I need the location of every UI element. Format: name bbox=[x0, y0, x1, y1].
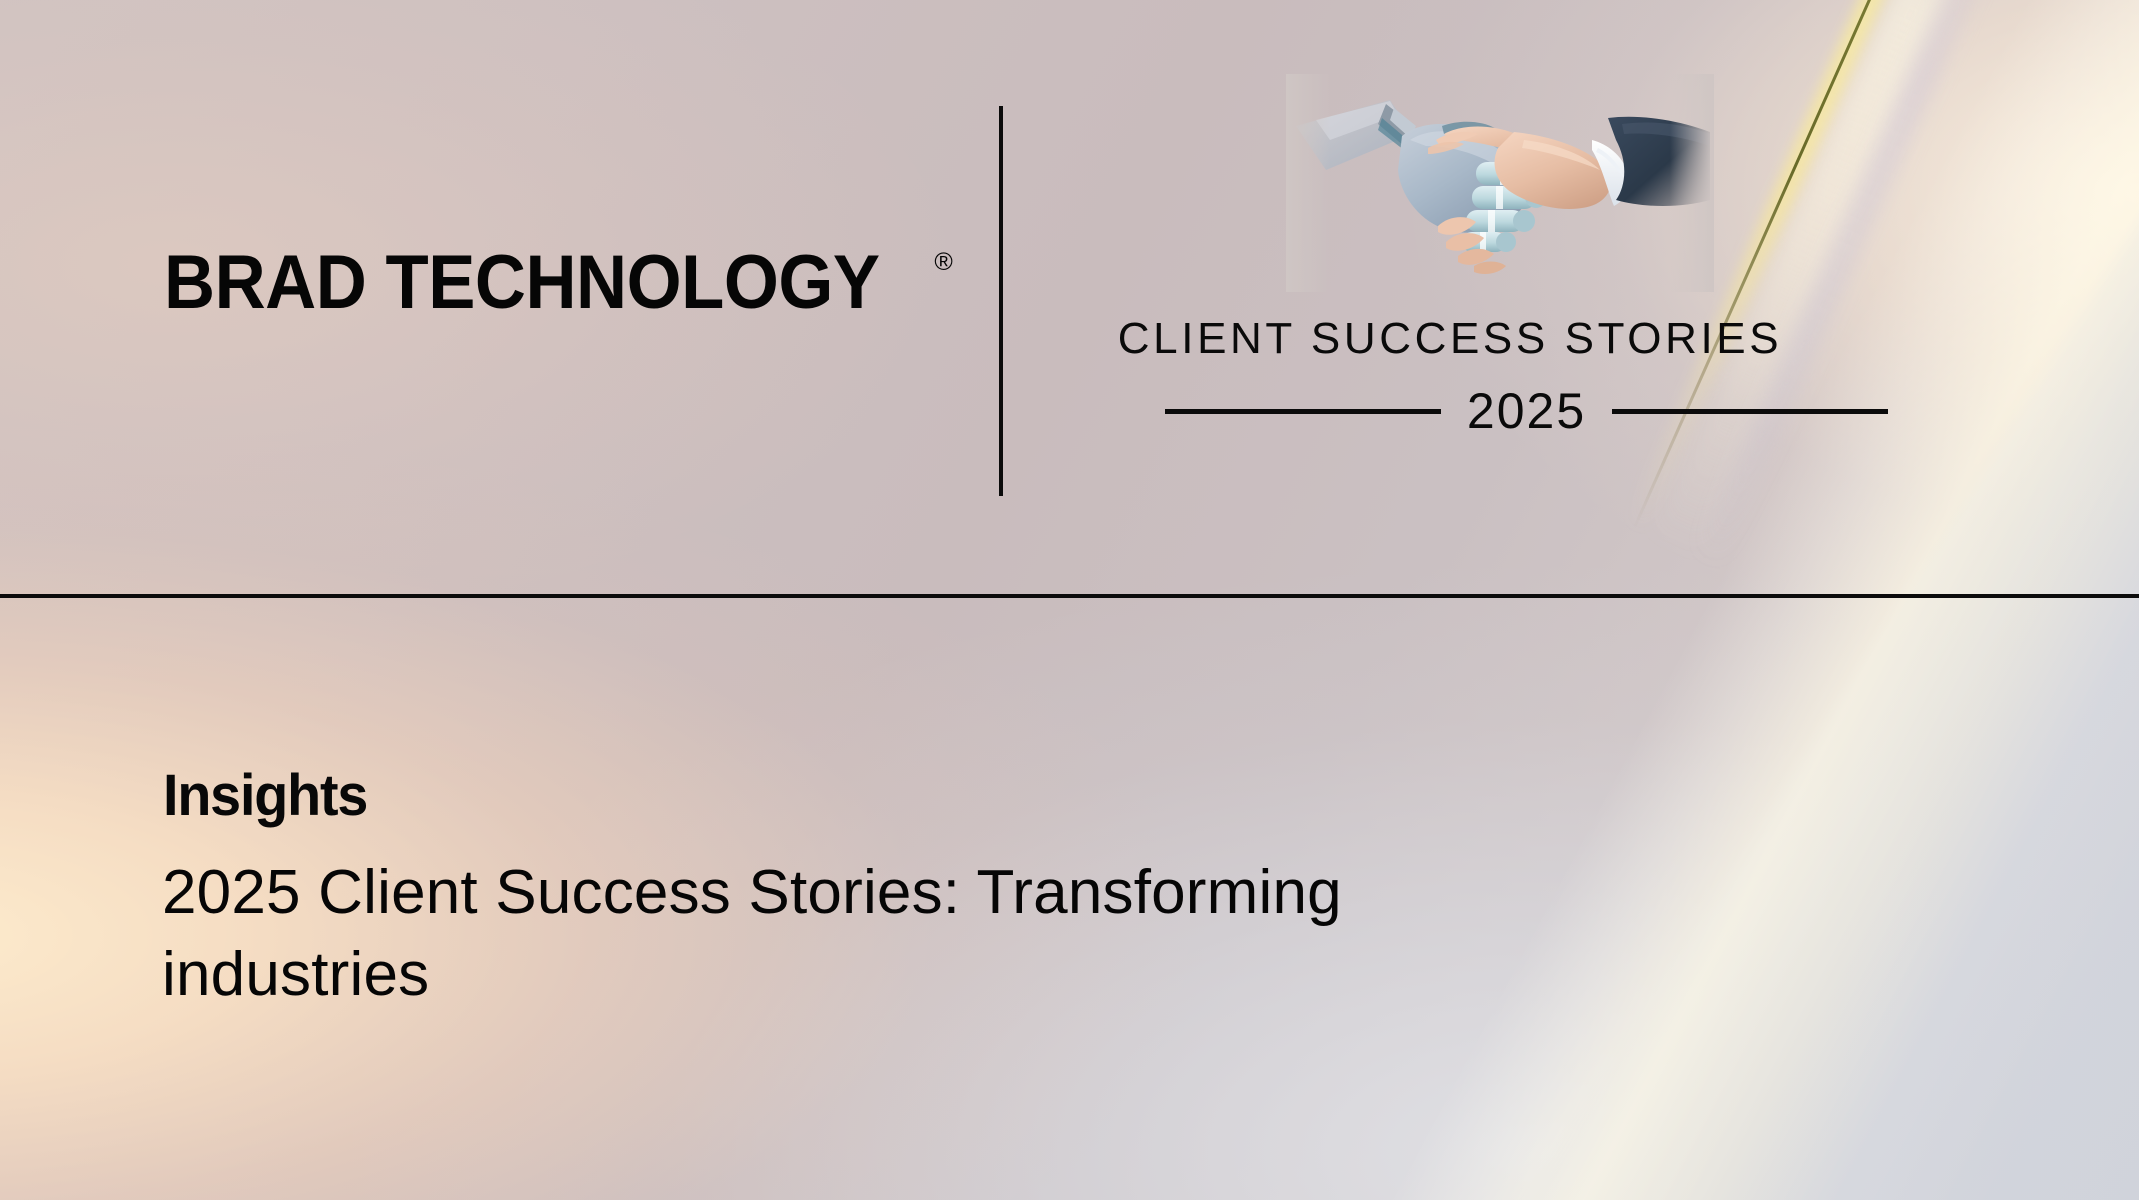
section-eyebrow: Insights bbox=[163, 762, 367, 829]
brand-name: BRAD TECHNOLOGY bbox=[164, 248, 880, 318]
brand-logo: BRAD TECHNOLOGY ® bbox=[164, 248, 953, 318]
registered-trademark-icon: ® bbox=[934, 250, 952, 275]
background-warm-left-glow bbox=[0, 0, 2139, 1200]
background-cool-wedge bbox=[0, 0, 2139, 1200]
background-warm-upper-left-glow bbox=[0, 0, 2139, 1200]
page-title: 2025 Client Success Stories: Transformin… bbox=[162, 852, 2022, 1016]
background-base-gradient bbox=[0, 0, 2139, 1200]
background-warm-right-glow bbox=[0, 0, 2139, 1200]
header-year: 2025 bbox=[1467, 382, 1586, 440]
section-divider bbox=[0, 594, 2139, 598]
year-rule-left bbox=[1165, 409, 1441, 414]
page-title-line-2: industries bbox=[162, 934, 2022, 1016]
header-year-row: 2025 bbox=[1165, 382, 1888, 440]
prism-violet-streak bbox=[1693, 0, 2030, 568]
header-vertical-divider bbox=[999, 106, 1003, 496]
presentation-slide: BRAD TECHNOLOGY ® bbox=[0, 0, 2139, 1200]
page-title-line-1: 2025 Client Success Stories: Transformin… bbox=[162, 852, 2022, 934]
year-rule-right bbox=[1612, 409, 1888, 414]
background-cool-glow bbox=[0, 0, 2139, 1200]
header-tagline: CLIENT SUCCESS STORIES bbox=[1000, 314, 1900, 364]
background-light-ribbon bbox=[0, 0, 2139, 1200]
robot-human-handshake-image bbox=[1286, 74, 1714, 292]
